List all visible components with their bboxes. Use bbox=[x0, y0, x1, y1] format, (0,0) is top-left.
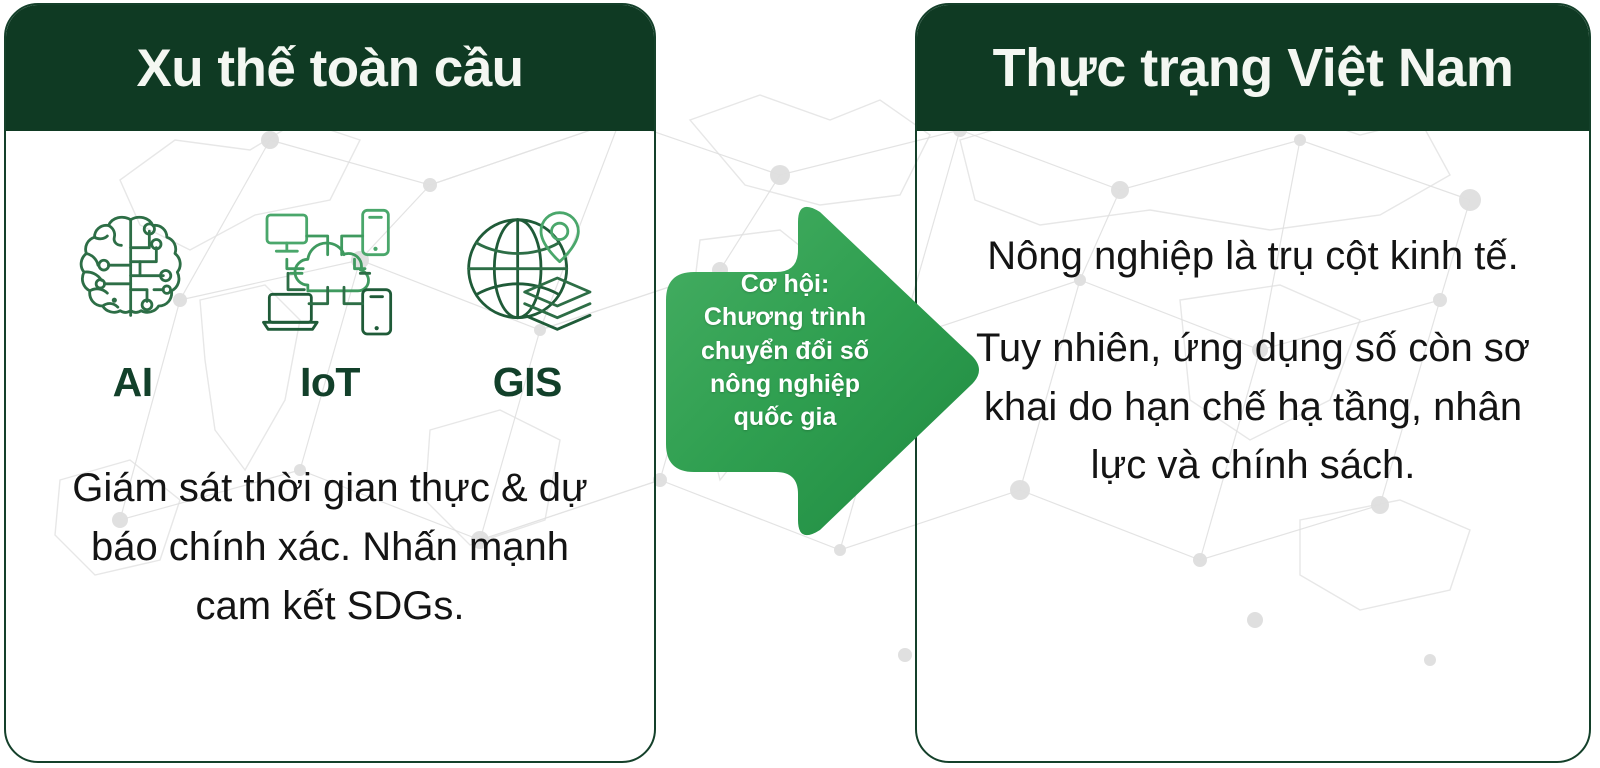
arrow-line-3: chuyển đổi số bbox=[660, 335, 910, 368]
arrow-line-2: Chương trình bbox=[660, 301, 910, 334]
vietnam-status-body: Nông nghiệp là trụ cột kinh tế. Tuy nhiê… bbox=[917, 131, 1589, 761]
technology-item-gis: GIS bbox=[432, 193, 622, 403]
arrow-line-1: Cơ hội: bbox=[660, 268, 910, 301]
infographic-stage: Xu thế toàn cầu bbox=[0, 0, 1600, 768]
opportunity-arrow-text: Cơ hội: Chương trình chuyển đổi số nông … bbox=[660, 268, 910, 434]
arrow-line-4: nông nghiệp bbox=[660, 368, 910, 401]
technology-item-iot: IoT bbox=[235, 193, 425, 403]
iot-cloud-devices-icon bbox=[257, 193, 403, 348]
ai-brain-circuit-icon bbox=[63, 193, 203, 348]
vietnam-status-title: Thực trạng Việt Nam bbox=[993, 41, 1514, 95]
global-trends-card: Xu thế toàn cầu bbox=[4, 3, 656, 763]
vietnam-status-header: Thực trạng Việt Nam bbox=[917, 5, 1589, 131]
vietnam-status-card: Thực trạng Việt Nam Nông nghiệp là trụ c… bbox=[915, 3, 1591, 763]
technology-item-ai: AI bbox=[38, 193, 228, 403]
technology-icons-row: AI bbox=[6, 131, 654, 403]
global-trends-caption: Giám sát thời gian thực & dự báo chính x… bbox=[6, 459, 654, 637]
global-trends-title: Xu thế toàn cầu bbox=[136, 42, 523, 95]
global-trends-header: Xu thế toàn cầu bbox=[6, 5, 654, 131]
technology-label-ai: AI bbox=[113, 362, 153, 403]
vietnam-paragraph-2: Tuy nhiên, ứng dụng số còn sơ khai do hạ… bbox=[957, 319, 1549, 494]
arrow-line-5: quốc gia bbox=[660, 401, 910, 434]
technology-label-iot: IoT bbox=[300, 362, 360, 403]
vietnam-paragraph-1: Nông nghiệp là trụ cột kinh tế. bbox=[957, 227, 1549, 285]
opportunity-arrow-callout: Cơ hội: Chương trình chuyển đổi số nông … bbox=[648, 182, 988, 562]
global-trends-body: AI bbox=[6, 131, 654, 761]
gis-globe-pin-layers-icon bbox=[454, 193, 600, 348]
technology-label-gis: GIS bbox=[493, 362, 562, 403]
